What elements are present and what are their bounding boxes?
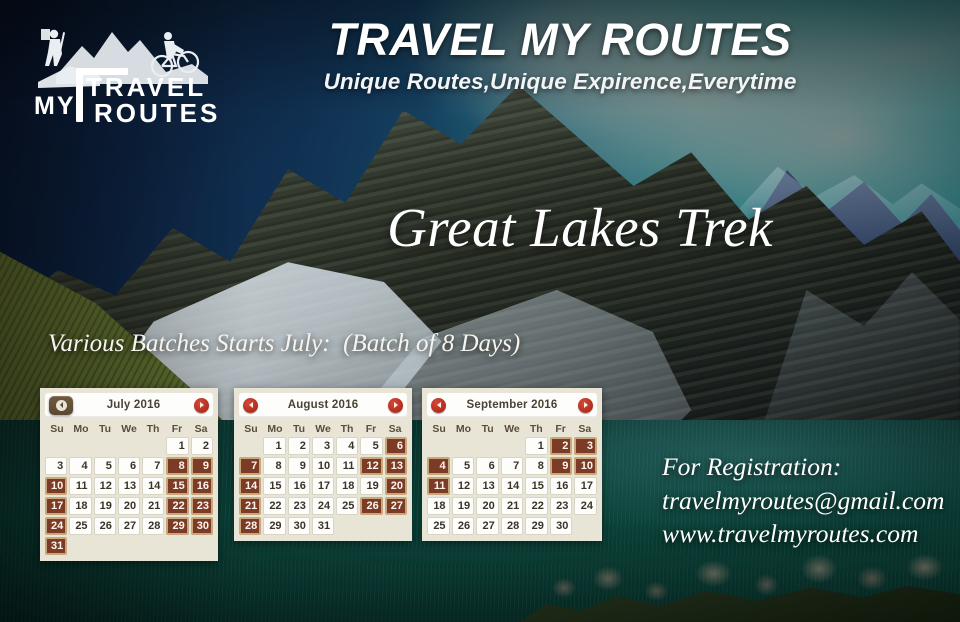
brand-logo: MY TRAVEL ROUTES (16, 14, 224, 126)
calendar-day[interactable]: 21 (501, 497, 524, 515)
calendar-empty-cell (45, 437, 67, 455)
calendar-empty-cell (94, 437, 116, 455)
calendar-day[interactable]: 8 (263, 457, 285, 475)
weekday-label: Mo (451, 423, 475, 435)
calendar-day-selected[interactable]: 12 (360, 457, 382, 475)
calendar-day-selected[interactable]: 7 (239, 457, 261, 475)
calendar-day[interactable]: 5 (94, 457, 116, 475)
weekday-label: Fr (359, 423, 383, 435)
calendar-day[interactable]: 4 (69, 457, 91, 475)
calendar-day[interactable]: 30 (550, 517, 573, 535)
calendar-day[interactable]: 6 (476, 457, 499, 475)
calendar-day[interactable]: 27 (118, 517, 140, 535)
calendar-day[interactable]: 1 (263, 437, 285, 455)
chevron-right-icon[interactable] (388, 398, 403, 413)
chevron-left-icon[interactable] (49, 396, 73, 415)
registration-heading: For Registration: (662, 450, 944, 484)
weekday-label: Tu (476, 423, 500, 435)
calendar-day-selected[interactable]: 4 (427, 457, 450, 475)
calendar-day[interactable]: 18 (336, 477, 358, 495)
calendar-day[interactable]: 29 (263, 517, 285, 535)
calendar-day[interactable]: 8 (525, 457, 548, 475)
weekday-label: We (500, 423, 524, 435)
weekday-header-row: SuMoTuWeThFrSa (45, 423, 213, 435)
calendar-day[interactable]: 29 (525, 517, 548, 535)
calendar-day-selected[interactable]: 22 (166, 497, 188, 515)
calendar-day-selected[interactable]: 30 (191, 517, 213, 535)
calendar-empty-cell (452, 437, 475, 455)
weekday-label: Mo (69, 423, 93, 435)
calendar-day-selected[interactable]: 27 (385, 497, 407, 515)
calendar-day[interactable]: 25 (336, 497, 358, 515)
calendar-day[interactable]: 1 (166, 437, 188, 455)
calendar-day[interactable]: 2 (288, 437, 310, 455)
calendar-day[interactable]: 22 (525, 497, 548, 515)
calendar-day[interactable]: 17 (574, 477, 597, 495)
weekday-header-row: SuMoTuWeThFrSa (239, 423, 407, 435)
chevron-right-glyph (584, 402, 588, 408)
calendar-day-grid: 1234567891011121314151617181920212223242… (427, 437, 597, 535)
calendar-day[interactable]: 14 (501, 477, 524, 495)
calendar-month-title: September 2016 (446, 399, 578, 411)
calendar-day[interactable]: 24 (574, 497, 597, 515)
calendar-day-selected[interactable]: 24 (45, 517, 67, 535)
chevron-right-glyph (200, 402, 204, 408)
calendar-day[interactable]: 12 (452, 477, 475, 495)
calendar-day[interactable]: 18 (427, 497, 450, 515)
calendar-header: September 2016 (427, 393, 597, 417)
weekday-label: We (311, 423, 335, 435)
calendar-day-selected[interactable]: 9 (550, 457, 573, 475)
calendar-day[interactable]: 31 (312, 517, 334, 535)
chevron-left-icon[interactable] (431, 398, 446, 413)
calendar-day-selected[interactable]: 8 (166, 457, 188, 475)
calendar-day[interactable]: 19 (452, 497, 475, 515)
calendar-header: August 2016 (239, 393, 407, 417)
chevron-left-icon[interactable] (243, 398, 258, 413)
calendar-day-selected[interactable]: 2 (550, 437, 573, 455)
chevron-left-glyph (60, 402, 63, 408)
calendar-day[interactable]: 16 (288, 477, 310, 495)
calendar-month-title: August 2016 (258, 399, 388, 411)
weekday-header-row: SuMoTuWeThFrSa (427, 423, 597, 435)
calendar-day-selected[interactable]: 28 (239, 517, 261, 535)
calendar-day[interactable]: 7 (501, 457, 524, 475)
calendar-day[interactable]: 15 (263, 477, 285, 495)
calendar-day[interactable]: 18 (69, 497, 91, 515)
calendar-day-grid: 1234567891011121314151617181920212223242… (239, 437, 407, 535)
calendar-day[interactable]: 3 (45, 457, 67, 475)
brand-tagline: Unique Routes,Unique Expirence,Everytime (260, 69, 860, 95)
calendar-july[interactable]: July 2016SuMoTuWeThFrSa12345678910111213… (40, 388, 218, 561)
brand-header: TRAVEL MY ROUTES Unique Routes,Unique Ex… (260, 16, 860, 95)
calendar-day-selected[interactable]: 16 (191, 477, 213, 495)
calendar-empty-cell (427, 437, 450, 455)
calendar-day-selected[interactable]: 9 (191, 457, 213, 475)
calendar-day-selected[interactable]: 26 (360, 497, 382, 515)
chevron-right-icon[interactable] (578, 398, 593, 413)
calendar-empty-cell (501, 437, 524, 455)
calendar-day[interactable]: 25 (69, 517, 91, 535)
calendar-day[interactable]: 12 (94, 477, 116, 495)
calendar-day-selected[interactable]: 23 (191, 497, 213, 515)
logo-my-text: MY (34, 92, 76, 120)
chevron-right-icon[interactable] (194, 398, 209, 413)
calendar-day-selected[interactable]: 11 (427, 477, 450, 495)
calendar-day[interactable]: 2 (191, 437, 213, 455)
calendar-empty-cell (239, 437, 261, 455)
calendar-day-selected[interactable]: 10 (574, 457, 597, 475)
calendar-day-selected[interactable]: 31 (45, 537, 67, 555)
weekday-label: Th (141, 423, 165, 435)
registration-email[interactable]: travelmyroutes@gmail.com (662, 484, 944, 518)
calendar-day-selected[interactable]: 20 (385, 477, 407, 495)
calendar-day[interactable]: 19 (94, 497, 116, 515)
calendar-day[interactable]: 19 (360, 477, 382, 495)
calendar-day[interactable]: 10 (312, 457, 334, 475)
calendar-day[interactable]: 13 (476, 477, 499, 495)
calendar-day[interactable]: 17 (312, 477, 334, 495)
calendar-day[interactable]: 20 (118, 497, 140, 515)
weekday-label: Th (335, 423, 359, 435)
weekday-label: Su (45, 423, 69, 435)
weekday-label: Tu (287, 423, 311, 435)
calendar-day[interactable]: 30 (288, 517, 310, 535)
calendar-day[interactable]: 28 (142, 517, 164, 535)
weekday-label: Fr (548, 423, 572, 435)
calendar-day-selected[interactable]: 13 (385, 457, 407, 475)
calendar-month-title: July 2016 (73, 399, 194, 411)
calendar-day[interactable]: 24 (312, 497, 334, 515)
calendar-day[interactable]: 1 (525, 437, 548, 455)
registration-website[interactable]: www.travelmyroutes.com (662, 517, 944, 551)
calendar-day[interactable]: 6 (118, 457, 140, 475)
weekday-label: Su (427, 423, 451, 435)
trek-title: Great Lakes Trek (0, 196, 960, 259)
calendar-day[interactable]: 5 (360, 437, 382, 455)
calendar-day[interactable]: 4 (336, 437, 358, 455)
calendar-header: July 2016 (45, 393, 213, 417)
calendar-day[interactable]: 3 (312, 437, 334, 455)
calendar-day[interactable]: 11 (336, 457, 358, 475)
weekday-label: We (117, 423, 141, 435)
calendar-day[interactable]: 21 (142, 497, 164, 515)
weekday-label: Mo (263, 423, 287, 435)
batches-line: Various Batches Starts July: (Batch of 8… (48, 330, 520, 358)
calendar-day-selected[interactable]: 3 (574, 437, 597, 455)
calendar-day[interactable]: 5 (452, 457, 475, 475)
calendar-day[interactable]: 16 (550, 477, 573, 495)
calendar-day-selected[interactable]: 21 (239, 497, 261, 515)
logo-routes-text: ROUTES (94, 98, 220, 126)
calendar-day[interactable]: 11 (69, 477, 91, 495)
registration-block: For Registration: travelmyroutes@gmail.c… (662, 450, 944, 551)
weekday-label: Sa (189, 423, 213, 435)
calendar-empty-cell (142, 437, 164, 455)
calendar-september[interactable]: September 2016SuMoTuWeThFrSa123456789101… (422, 388, 602, 541)
calendar-day[interactable]: 26 (452, 517, 475, 535)
calendar-day[interactable]: 25 (427, 517, 450, 535)
calendar-day[interactable]: 20 (476, 497, 499, 515)
calendar-empty-cell (476, 437, 499, 455)
weekday-label: Tu (93, 423, 117, 435)
calendar-day-selected[interactable]: 29 (166, 517, 188, 535)
weekday-label: Sa (573, 423, 597, 435)
calendar-day[interactable]: 15 (525, 477, 548, 495)
weekday-label: Sa (383, 423, 407, 435)
calendar-day-grid: 1234567891011121314151617181920212223242… (45, 437, 213, 555)
travel-poster: MY TRAVEL ROUTES TRAVEL MY ROUTES Unique… (0, 0, 960, 622)
calendar-day[interactable]: 28 (501, 517, 524, 535)
calendar-day[interactable]: 13 (118, 477, 140, 495)
calendar-day-selected[interactable]: 14 (239, 477, 261, 495)
brand-title: TRAVEL MY ROUTES (260, 16, 860, 65)
weekday-label: Su (239, 423, 263, 435)
calendar-august[interactable]: August 2016SuMoTuWeThFrSa123456789101112… (234, 388, 412, 541)
calendar-day[interactable]: 14 (142, 477, 164, 495)
calendar-day-selected[interactable]: 15 (166, 477, 188, 495)
calendar-day-selected[interactable]: 10 (45, 477, 67, 495)
chevron-left-glyph (249, 402, 253, 408)
calendar-day[interactable]: 22 (263, 497, 285, 515)
calendar-day[interactable]: 23 (288, 497, 310, 515)
weekday-label: Th (524, 423, 548, 435)
calendar-day[interactable]: 27 (476, 517, 499, 535)
nav-button-inner (56, 400, 67, 411)
chevron-left-glyph (437, 402, 441, 408)
weekday-label: Fr (165, 423, 189, 435)
calendar-day[interactable]: 26 (94, 517, 116, 535)
calendar-day[interactable]: 9 (288, 457, 310, 475)
calendar-empty-cell (118, 437, 140, 455)
calendar-empty-cell (69, 437, 91, 455)
calendar-day[interactable]: 23 (550, 497, 573, 515)
calendar-day[interactable]: 7 (142, 457, 164, 475)
calendar-day-selected[interactable]: 17 (45, 497, 67, 515)
calendar-day-selected[interactable]: 6 (385, 437, 407, 455)
chevron-right-glyph (394, 402, 398, 408)
